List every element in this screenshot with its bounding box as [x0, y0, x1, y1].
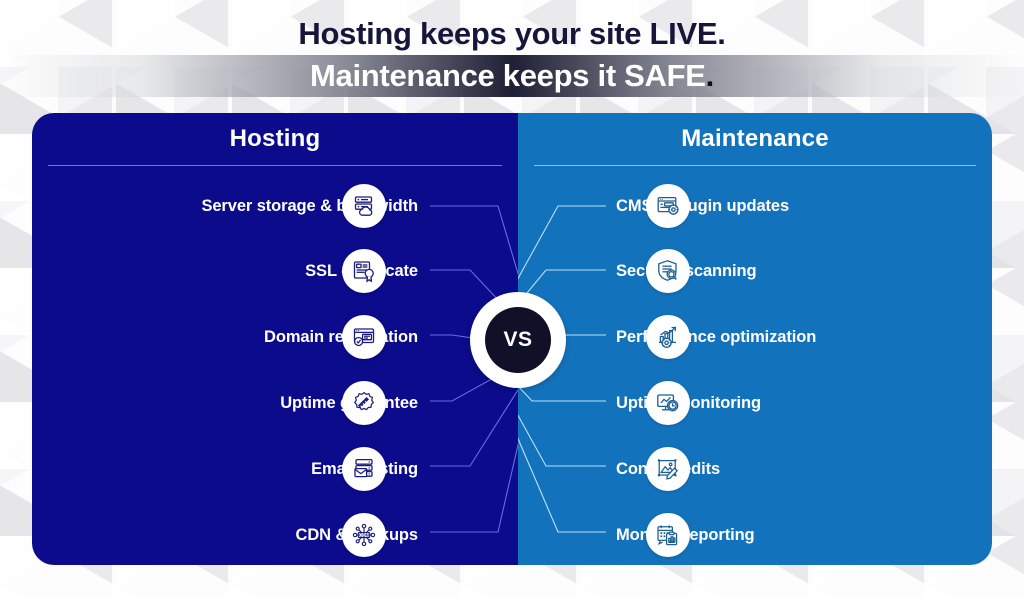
- list-item[interactable]: Content edits: [604, 446, 992, 492]
- server-envelope-icon: [342, 447, 386, 491]
- server-cloud-icon: [342, 184, 386, 228]
- ssl-certificate-icon: [342, 249, 386, 293]
- hosting-items: Server storage & bandwidth SSL certifica…: [32, 166, 518, 565]
- list-item[interactable]: Server storage & bandwidth: [32, 183, 430, 229]
- headline-block: Hosting keeps your site LIVE. Maintenanc…: [0, 0, 1024, 97]
- cdn-network-icon: CDN: [342, 513, 386, 557]
- list-item[interactable]: Domain registration: [32, 314, 430, 360]
- shield-magnifier-icon: [646, 249, 690, 293]
- headline-line-2: Maintenance keeps it SAFE.: [0, 58, 1024, 94]
- headline-gradient-band: Maintenance keeps it SAFE.: [0, 55, 1024, 97]
- list-item[interactable]: Uptime guarantee: [32, 380, 430, 426]
- hosting-column-title: Hosting: [32, 113, 518, 165]
- browser-gear-icon: [646, 184, 690, 228]
- vs-badge: VS: [470, 292, 566, 388]
- maintenance-column-title: Maintenance: [518, 113, 992, 165]
- headline-line-1: Hosting keeps your site LIVE.: [0, 0, 1024, 51]
- list-item[interactable]: CDN & backups: [32, 512, 430, 558]
- domain-browser-check-icon: [342, 315, 386, 359]
- calendar-report-icon: [646, 513, 690, 557]
- list-item[interactable]: Monthly reporting: [604, 512, 992, 558]
- image-pencil-icon: [646, 447, 690, 491]
- monitor-clock-icon: [646, 381, 690, 425]
- maintenance-item-label: CMS & plugin updates: [616, 197, 789, 216]
- list-item[interactable]: CMS & plugin updates: [604, 183, 992, 229]
- headline-line-2-text: Maintenance keeps it SAFE: [310, 58, 706, 93]
- list-item[interactable]: Security scanning: [604, 248, 992, 294]
- list-item[interactable]: Email hosting: [32, 446, 430, 492]
- list-item[interactable]: Uptime monitoring: [604, 380, 992, 426]
- hosting-panel: Hosting Server storage & bandwidth: [32, 113, 518, 565]
- maintenance-panel: Maintenance: [518, 113, 992, 565]
- guarantee-badge-icon: [342, 381, 386, 425]
- list-item[interactable]: SSL certificate: [32, 248, 430, 294]
- vs-badge-label: VS: [485, 307, 551, 373]
- svg-text:CDN: CDN: [359, 532, 370, 537]
- maintenance-items: CMS & plugin updates Security scanning: [518, 166, 992, 565]
- bar-chart-gear-icon: [646, 315, 690, 359]
- headline-line-2-period: .: [706, 58, 714, 93]
- list-item[interactable]: Performance optimization: [604, 314, 992, 360]
